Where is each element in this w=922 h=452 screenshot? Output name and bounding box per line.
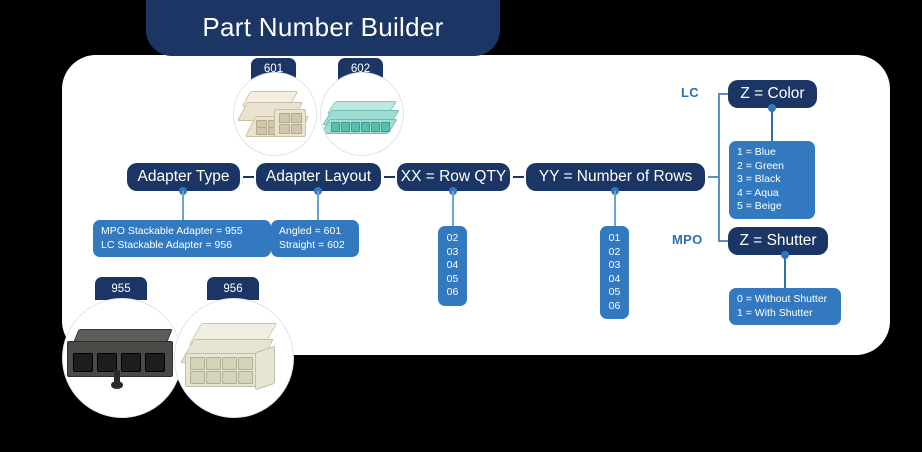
detail-box-color: 1 = Blue 2 = Green 3 = Black 4 = Aqua 5 …	[729, 141, 815, 219]
flow-step-label: Z = Color	[740, 85, 804, 103]
detail-line: 04	[600, 273, 629, 287]
product-photo-601	[233, 72, 317, 156]
flow-step-label: Adapter Layout	[266, 168, 371, 186]
detail-line: 05	[438, 273, 467, 287]
connector-line	[182, 191, 184, 220]
branch-label-mpo: MPO	[672, 232, 703, 247]
branch-connector-vertical	[718, 93, 720, 241]
detail-line: 3 = Black	[737, 173, 807, 187]
detail-line: 06	[600, 300, 629, 314]
detail-box-row-qty: 02 03 04 05 06	[438, 226, 467, 306]
connector-line	[452, 191, 454, 226]
connector-line	[614, 191, 616, 226]
header-tab: Part Number Builder	[146, 0, 500, 56]
detail-line: 4 = Aqua	[737, 187, 807, 201]
detail-line: 5 = Beige	[737, 200, 807, 214]
detail-line: 04	[438, 259, 467, 273]
detail-box-number-of-rows: 01 02 03 04 05 06	[600, 226, 629, 319]
product-photo-956	[174, 298, 294, 418]
adapter-956-art	[175, 299, 293, 417]
detail-box-adapter-type: MPO Stackable Adapter = 955 LC Stackable…	[93, 220, 271, 257]
detail-line: 01	[600, 232, 629, 246]
detail-line: 05	[600, 286, 629, 300]
flow-step-label: Z = Shutter	[739, 232, 816, 250]
detail-line: Straight = 602	[279, 239, 351, 253]
detail-line: 2 = Green	[737, 160, 807, 174]
detail-line: 1 = With Shutter	[737, 307, 833, 321]
detail-line: 03	[438, 246, 467, 260]
flow-connector-dash	[513, 176, 524, 178]
adapter-955-art	[63, 299, 181, 417]
flow-step-label: Adapter Type	[138, 168, 230, 186]
detail-line: 0 = Without Shutter	[737, 293, 833, 307]
photo-caption-956: 956	[207, 277, 259, 300]
flow-connector-dash	[384, 176, 395, 178]
product-photo-602	[320, 72, 404, 156]
flow-step-label: YY = Number of Rows	[539, 168, 693, 186]
adapter-602-art	[321, 73, 403, 155]
connector-line	[784, 255, 786, 288]
detail-box-shutter: 0 = Without Shutter 1 = With Shutter	[729, 288, 841, 325]
photo-caption-955: 955	[95, 277, 147, 300]
flow-connector-dash	[243, 176, 254, 178]
detail-line: 06	[438, 286, 467, 300]
page-title: Part Number Builder	[202, 12, 443, 45]
detail-line: Angled = 601	[279, 225, 351, 239]
detail-line: MPO Stackable Adapter = 955	[101, 225, 263, 239]
connector-line	[317, 191, 319, 220]
detail-line: 02	[600, 246, 629, 260]
detail-line: 03	[600, 259, 629, 273]
detail-line: LC Stackable Adapter = 956	[101, 239, 263, 253]
diagram-canvas: Part Number Builder 601 602	[0, 0, 922, 452]
detail-line: 02	[438, 232, 467, 246]
flow-step-label: XX = Row QTY	[401, 168, 507, 186]
product-photo-955	[62, 298, 182, 418]
detail-line: 1 = Blue	[737, 146, 807, 160]
connector-line	[771, 108, 773, 141]
adapter-601-art	[234, 73, 316, 155]
flow-step-shutter[interactable]: Z = Shutter	[728, 227, 828, 255]
detail-box-adapter-layout: Angled = 601 Straight = 602	[271, 220, 359, 257]
branch-label-lc: LC	[681, 85, 699, 100]
